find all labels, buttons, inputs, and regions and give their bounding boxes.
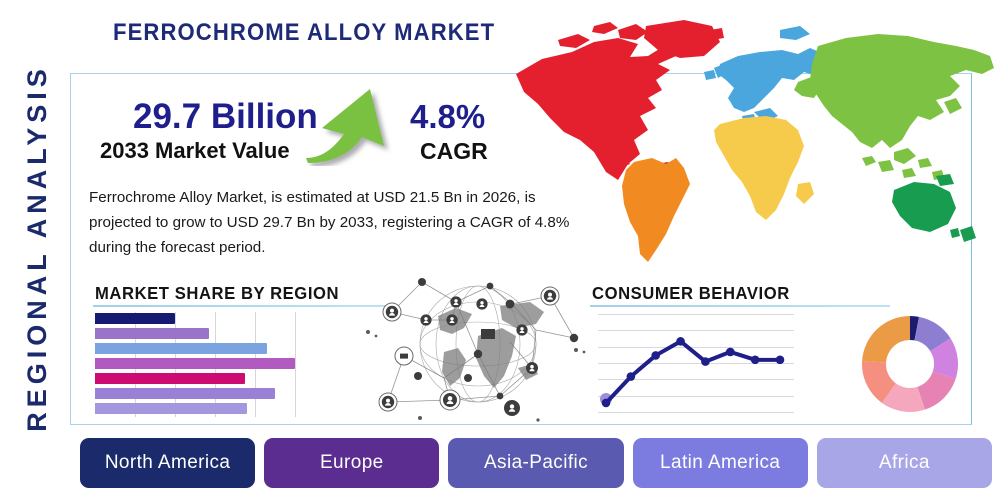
up-arrow-growth-icon <box>300 84 410 166</box>
bar-chart-bar <box>95 343 267 354</box>
line-chart-point <box>751 356 760 365</box>
consumer-behavior-heading: CONSUMER BEHAVIOR <box>592 283 790 304</box>
cagr-figure: 4.8% <box>410 98 485 136</box>
line-chart-point <box>627 372 636 381</box>
market-share-heading-rule <box>93 305 393 307</box>
donut-segment <box>917 371 955 409</box>
segment-donut-chart <box>858 312 962 416</box>
market-value-caption: 2033 Market Value <box>100 138 290 164</box>
region-button-europe[interactable]: Europe <box>264 438 439 488</box>
region-button-africa[interactable]: Africa <box>817 438 992 488</box>
bar-chart-bar <box>95 373 245 384</box>
line-chart-point <box>651 351 660 360</box>
region-button-label: North America <box>105 452 231 474</box>
line-chart-point <box>776 356 785 365</box>
bar-chart-bar <box>95 328 209 339</box>
region-button-latin-america[interactable]: Latin America <box>633 438 808 488</box>
region-button-label: Africa <box>879 452 930 474</box>
cagr-caption: CAGR <box>420 138 488 165</box>
market-value-figure: 29.7 Billion <box>133 97 318 137</box>
line-chart-point <box>726 348 735 357</box>
line-chart-point <box>676 337 685 346</box>
donut-segment <box>862 316 910 362</box>
global-network-users-icon <box>360 272 595 424</box>
region-button-asia-pacific[interactable]: Asia-Pacific <box>448 438 623 488</box>
bar-chart-bar <box>95 313 175 324</box>
region-button-label: Asia-Pacific <box>484 452 588 474</box>
regional-analysis-side-label: REGIONAL ANALYSIS <box>17 28 57 468</box>
region-button-label: Europe <box>320 452 384 474</box>
region-button-north-america[interactable]: North America <box>80 438 255 488</box>
bar-chart-bar <box>95 358 295 369</box>
world-map-icon <box>498 12 998 270</box>
market-share-bar-chart <box>95 312 325 417</box>
bar-chart-bar <box>95 403 247 414</box>
infographic-root: REGIONAL ANALYSIS FERROCHROME ALLOY MARK… <box>0 0 1000 500</box>
line-chart-point <box>701 357 710 366</box>
line-chart-point <box>602 399 611 408</box>
consumer-behavior-line-chart <box>598 310 794 418</box>
market-share-heading: MARKET SHARE BY REGION <box>95 283 339 304</box>
bar-chart-bar <box>95 388 275 399</box>
line-chart-series <box>606 341 780 403</box>
region-button-row: North AmericaEuropeAsia-PacificLatin Ame… <box>80 438 992 488</box>
region-button-label: Latin America <box>660 452 780 474</box>
consumer-behavior-heading-rule <box>590 305 890 307</box>
page-title: FERROCHROME ALLOY MARKET <box>113 19 495 47</box>
